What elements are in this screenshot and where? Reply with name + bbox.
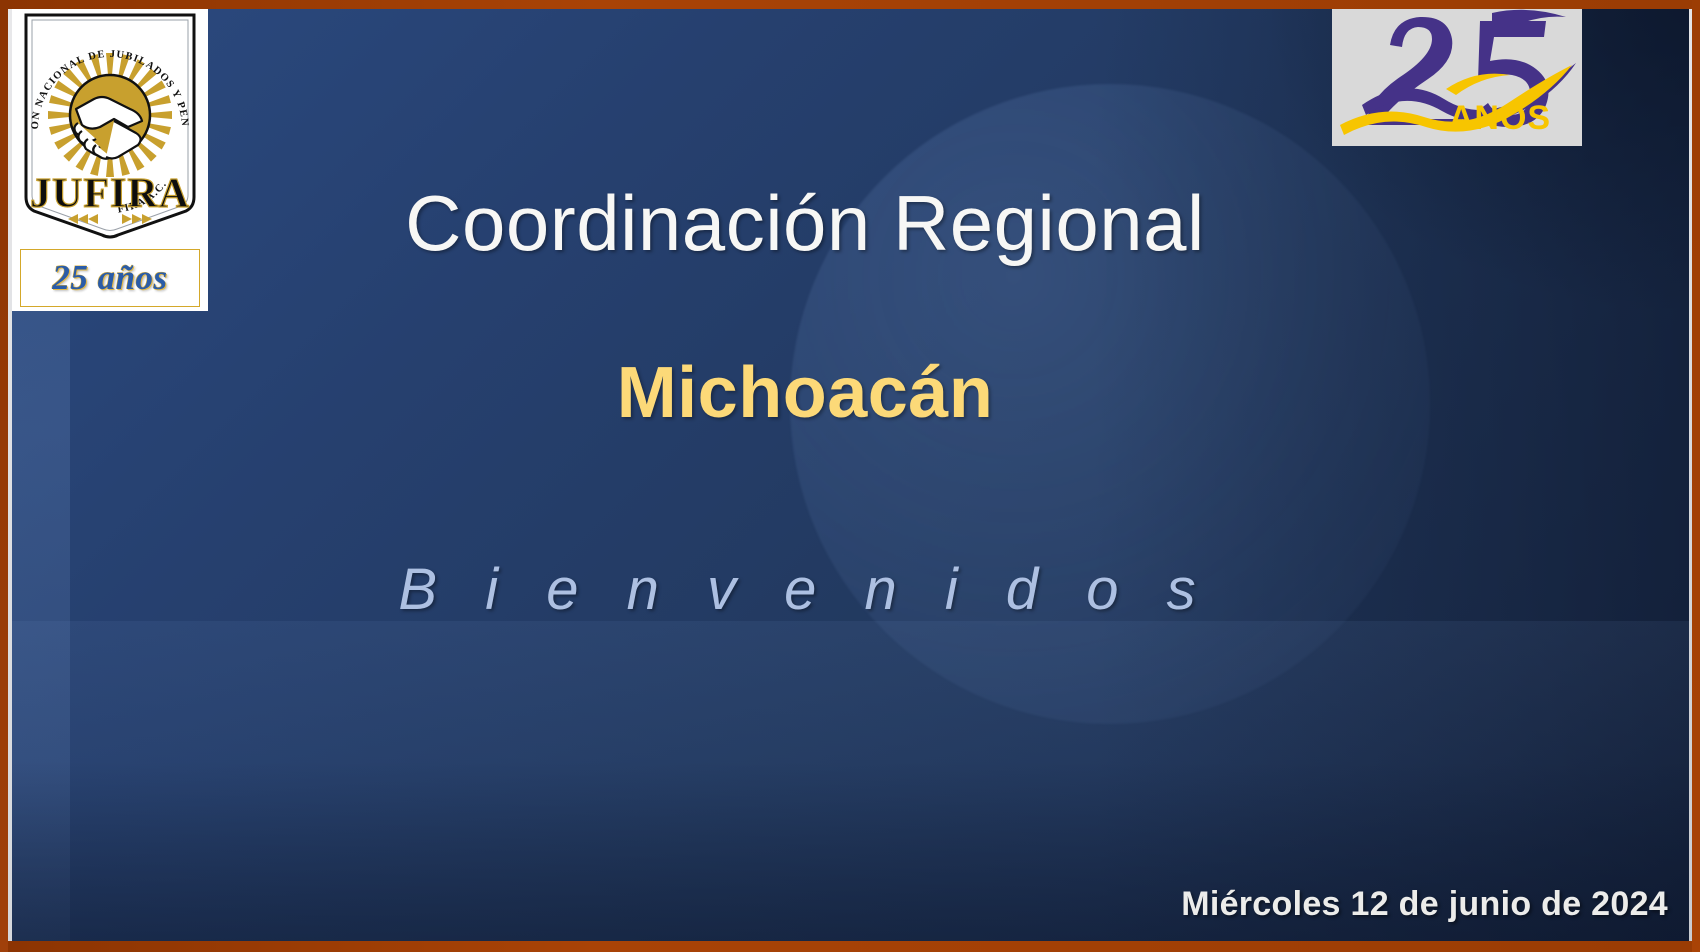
subtitle-state: Michoacán — [220, 352, 1390, 434]
jufira-crest-icon: ASOCIACION NACIONAL DE JUBILADOS Y PENSI… — [18, 11, 202, 243]
slide-background — [12, 9, 1692, 941]
anos-label: ANOS — [1449, 99, 1551, 137]
frame-border-right — [1692, 0, 1700, 952]
frame-inner-rule-left — [8, 9, 12, 943]
frame-border-left — [0, 0, 8, 952]
jufira-logo-panel: ASOCIACION NACIONAL DE JUBILADOS Y PENSI… — [12, 9, 208, 311]
jufira-wordmark: JUFIRA — [30, 171, 190, 217]
frame-border-top — [0, 0, 1700, 9]
date-label: Miércoles 12 de junio de 2024 — [1181, 885, 1668, 924]
frame-border-bottom — [0, 941, 1700, 952]
welcome-text: B i e n v e n i d o s — [220, 556, 1390, 623]
jufira-years-label: 25 años — [52, 258, 167, 298]
page-title: Coordinación Regional — [220, 178, 1390, 269]
jufira-years-box: 25 años — [20, 249, 200, 307]
presentation-slide: ASOCIACION NACIONAL DE JUBILADOS Y PENSI… — [0, 0, 1700, 952]
anniversary-25-anos-logo: ANOS — [1332, 3, 1582, 146]
25-anos-icon: ANOS — [1332, 3, 1582, 146]
